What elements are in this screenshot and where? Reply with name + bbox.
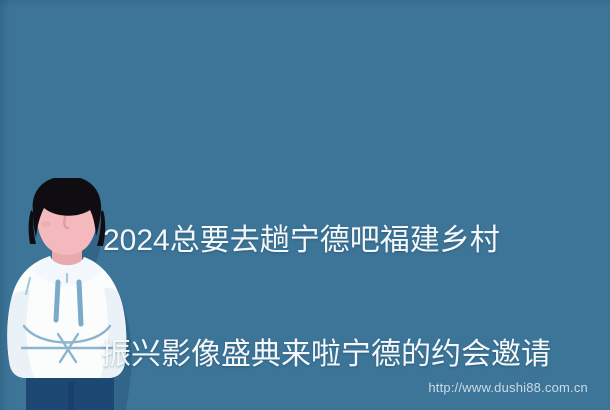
poster-image: 2024总要去趟宁德吧福建乡村 振兴影像盛典来啦宁德的约会邀请 http://w… (0, 0, 610, 410)
trousers (26, 374, 114, 410)
headline-line-1: 2024总要去趟宁德吧福建乡村 (103, 222, 573, 260)
headline-line-2: 振兴影像盛典来啦宁德的约会邀请 (101, 336, 573, 374)
watermark-url: http://www.dushi88.com.cn (428, 380, 588, 396)
page-title: 2024总要去趟宁德吧福建乡村 振兴影像盛典来啦宁德的约会邀请 (103, 146, 573, 410)
